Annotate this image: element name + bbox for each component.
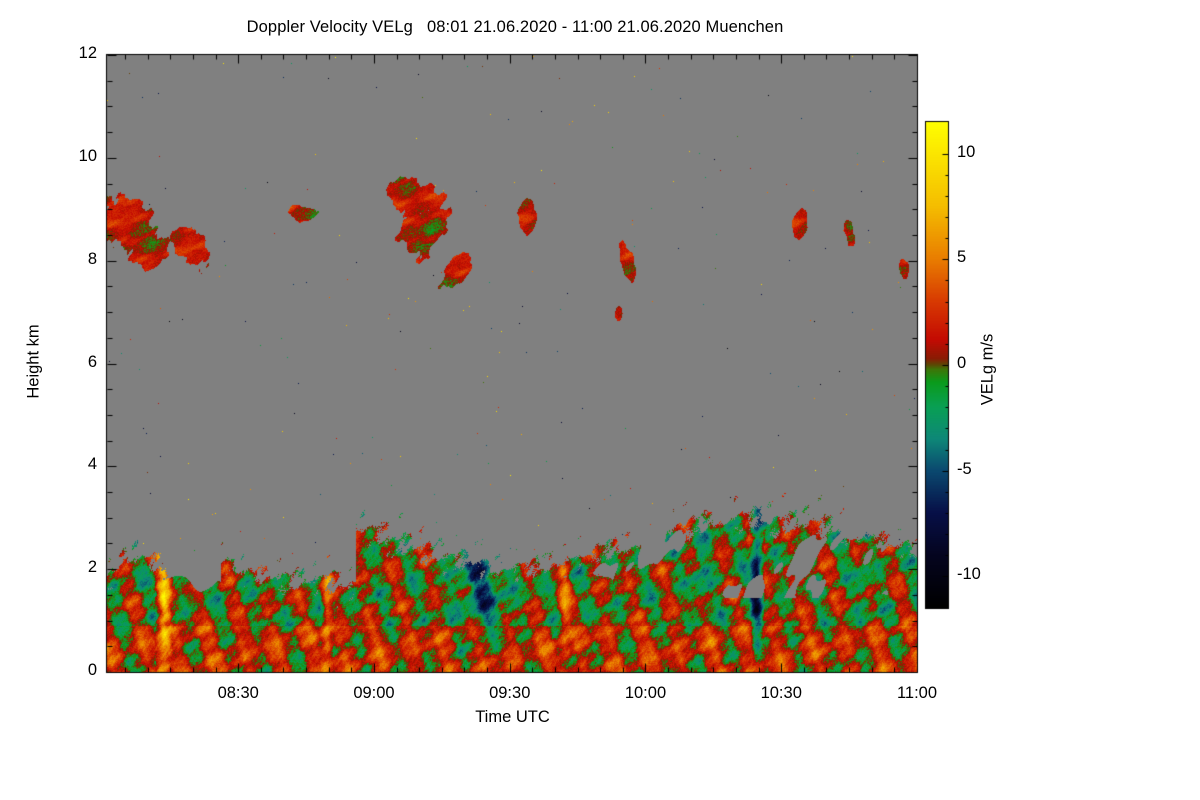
y-tick-label: 8 (37, 250, 97, 269)
x-tick-label: 10:30 (736, 684, 826, 703)
doppler-velocity-heatmap-canvas (0, 0, 1200, 800)
colorbar-tick-label: -5 (957, 460, 1017, 479)
y-tick-label: 6 (37, 353, 97, 372)
y-tick-label: 2 (37, 558, 97, 577)
y-tick-label: 0 (37, 661, 97, 680)
x-tick-label: 08:30 (193, 684, 283, 703)
y-tick-label: 4 (37, 455, 97, 474)
colorbar-tick-label: 10 (957, 143, 1017, 162)
x-tick-label: 09:30 (465, 684, 555, 703)
figure-root: Doppler Velocity VELg 08:01 21.06.2020 -… (0, 0, 1200, 800)
colorbar-tick-label: 0 (957, 354, 1017, 373)
x-axis-title: Time UTC (0, 708, 1025, 727)
x-tick-label: 09:00 (329, 684, 419, 703)
figure-title: Doppler Velocity VELg 08:01 21.06.2020 -… (0, 18, 1030, 37)
colorbar-tick-label: 5 (957, 248, 1017, 267)
x-tick-label: 10:00 (600, 684, 690, 703)
colorbar-tick-label: -10 (957, 565, 1017, 584)
y-tick-label: 10 (37, 147, 97, 166)
y-tick-label: 12 (37, 44, 97, 63)
x-tick-label: 11:00 (872, 684, 962, 703)
